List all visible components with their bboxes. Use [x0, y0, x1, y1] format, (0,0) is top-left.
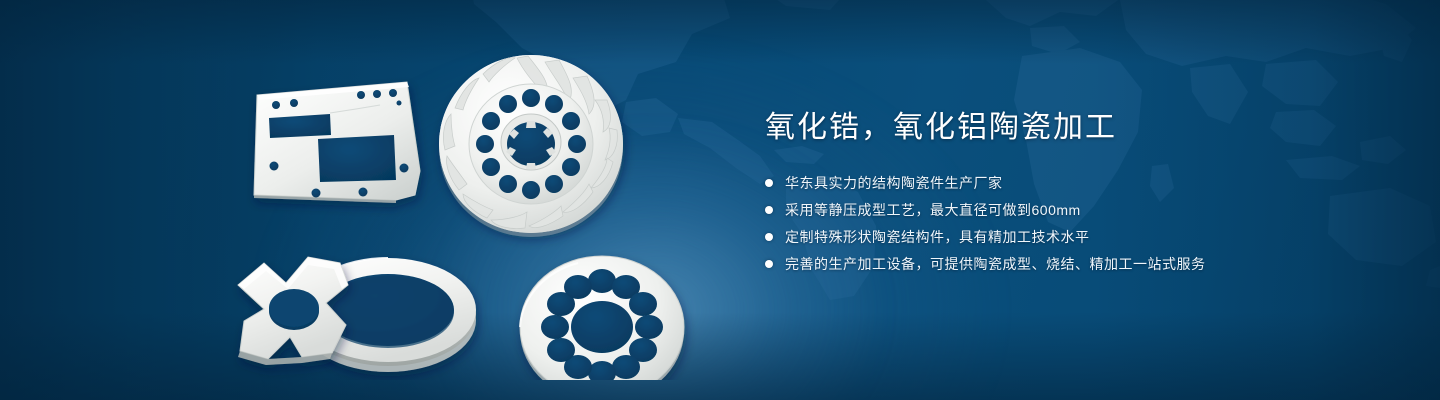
bullet-dot-icon: [765, 179, 773, 187]
ceramic-impeller: [439, 55, 623, 237]
feature-text: 采用等静压成型工艺，最大直径可做到600mm: [785, 199, 1081, 221]
list-item: 采用等静压成型工艺，最大直径可做到600mm: [765, 199, 1405, 221]
hero-banner: 氧化锆，氧化铝陶瓷加工 华东具实力的结构陶瓷件生产厂家 采用等静压成型工艺，最大…: [0, 0, 1440, 400]
feature-list: 华东具实力的结构陶瓷件生产厂家 采用等静压成型工艺，最大直径可做到600mm 定…: [765, 172, 1405, 275]
ceramic-cross-plate: [238, 257, 348, 365]
bullet-dot-icon: [765, 260, 773, 268]
feature-text: 完善的生产加工设备，可提供陶瓷成型、烧结、精加工一站式服务: [785, 253, 1206, 275]
list-item: 完善的生产加工设备，可提供陶瓷成型、烧结、精加工一站式服务: [765, 253, 1405, 275]
bullet-dot-icon: [765, 233, 773, 241]
bullet-dot-icon: [765, 206, 773, 214]
feature-text: 华东具实力的结构陶瓷件生产厂家: [785, 172, 1003, 194]
banner-copy: 氧化锆，氧化铝陶瓷加工 华东具实力的结构陶瓷件生产厂家 采用等静压成型工艺，最大…: [765, 108, 1405, 280]
product-photo-group: [210, 35, 730, 380]
page-title: 氧化锆，氧化铝陶瓷加工: [765, 108, 1405, 148]
ceramic-plate: [254, 82, 420, 203]
list-item: 华东具实力的结构陶瓷件生产厂家: [765, 172, 1405, 194]
ceramic-hole-disc: [520, 256, 684, 380]
list-item: 定制特殊形状陶瓷结构件，具有精加工技术水平: [765, 226, 1405, 248]
feature-text: 定制特殊形状陶瓷结构件，具有精加工技术水平: [785, 226, 1090, 248]
